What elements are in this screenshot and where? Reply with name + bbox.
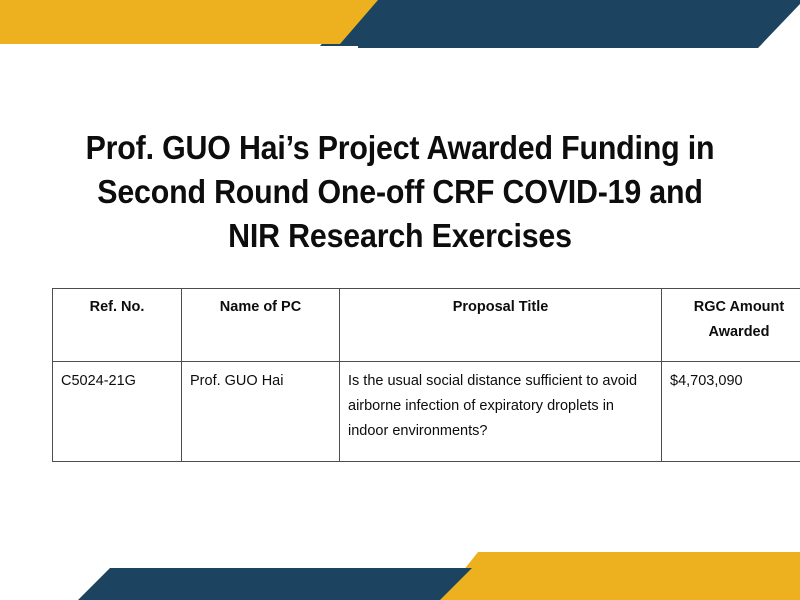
table-row: C5024-21G Prof. GUO Hai Is the usual soc… bbox=[53, 362, 800, 462]
slide-canvas: Prof. GUO Hai’s Project Awarded Funding … bbox=[0, 0, 800, 600]
cell-ref-no: C5024-21G bbox=[53, 362, 182, 462]
column-header-ref-no: Ref. No. bbox=[53, 289, 182, 362]
bottom-banner-decoration bbox=[0, 540, 800, 600]
award-table: Ref. No. Name of PC Proposal Title RGC A… bbox=[52, 288, 800, 462]
top-banner-navy-shape bbox=[358, 0, 800, 48]
title-line-1: Prof. GUO Hai’s Project Awarded Funding … bbox=[60, 126, 741, 170]
table-body: C5024-21G Prof. GUO Hai Is the usual soc… bbox=[53, 362, 800, 462]
top-banner-decoration bbox=[0, 0, 800, 60]
page-title: Prof. GUO Hai’s Project Awarded Funding … bbox=[30, 126, 770, 258]
column-header-rgc-amount-awarded: RGC Amount Awarded bbox=[662, 289, 800, 362]
column-header-name-of-pc: Name of PC bbox=[182, 289, 340, 362]
title-line-3: NIR Research Exercises bbox=[60, 214, 741, 258]
top-banner-yellow-shape bbox=[0, 0, 378, 44]
column-header-rgc-amount-line1: RGC Amount bbox=[670, 295, 800, 320]
bottom-banner-navy-shape bbox=[78, 568, 472, 600]
column-header-rgc-amount-line2: Awarded bbox=[670, 320, 800, 345]
title-line-2: Second Round One-off CRF COVID-19 and bbox=[60, 170, 741, 214]
bottom-banner-yellow-shape bbox=[440, 552, 800, 600]
top-banner-navy-shape-main bbox=[320, 0, 800, 46]
column-header-proposal-title: Proposal Title bbox=[340, 289, 662, 362]
table-header-row: Ref. No. Name of PC Proposal Title RGC A… bbox=[53, 289, 800, 362]
table-header: Ref. No. Name of PC Proposal Title RGC A… bbox=[53, 289, 800, 362]
cell-proposal-title: Is the usual social distance sufficient … bbox=[340, 362, 662, 462]
cell-rgc-amount: $4,703,090 bbox=[662, 362, 800, 462]
cell-name-of-pc: Prof. GUO Hai bbox=[182, 362, 340, 462]
